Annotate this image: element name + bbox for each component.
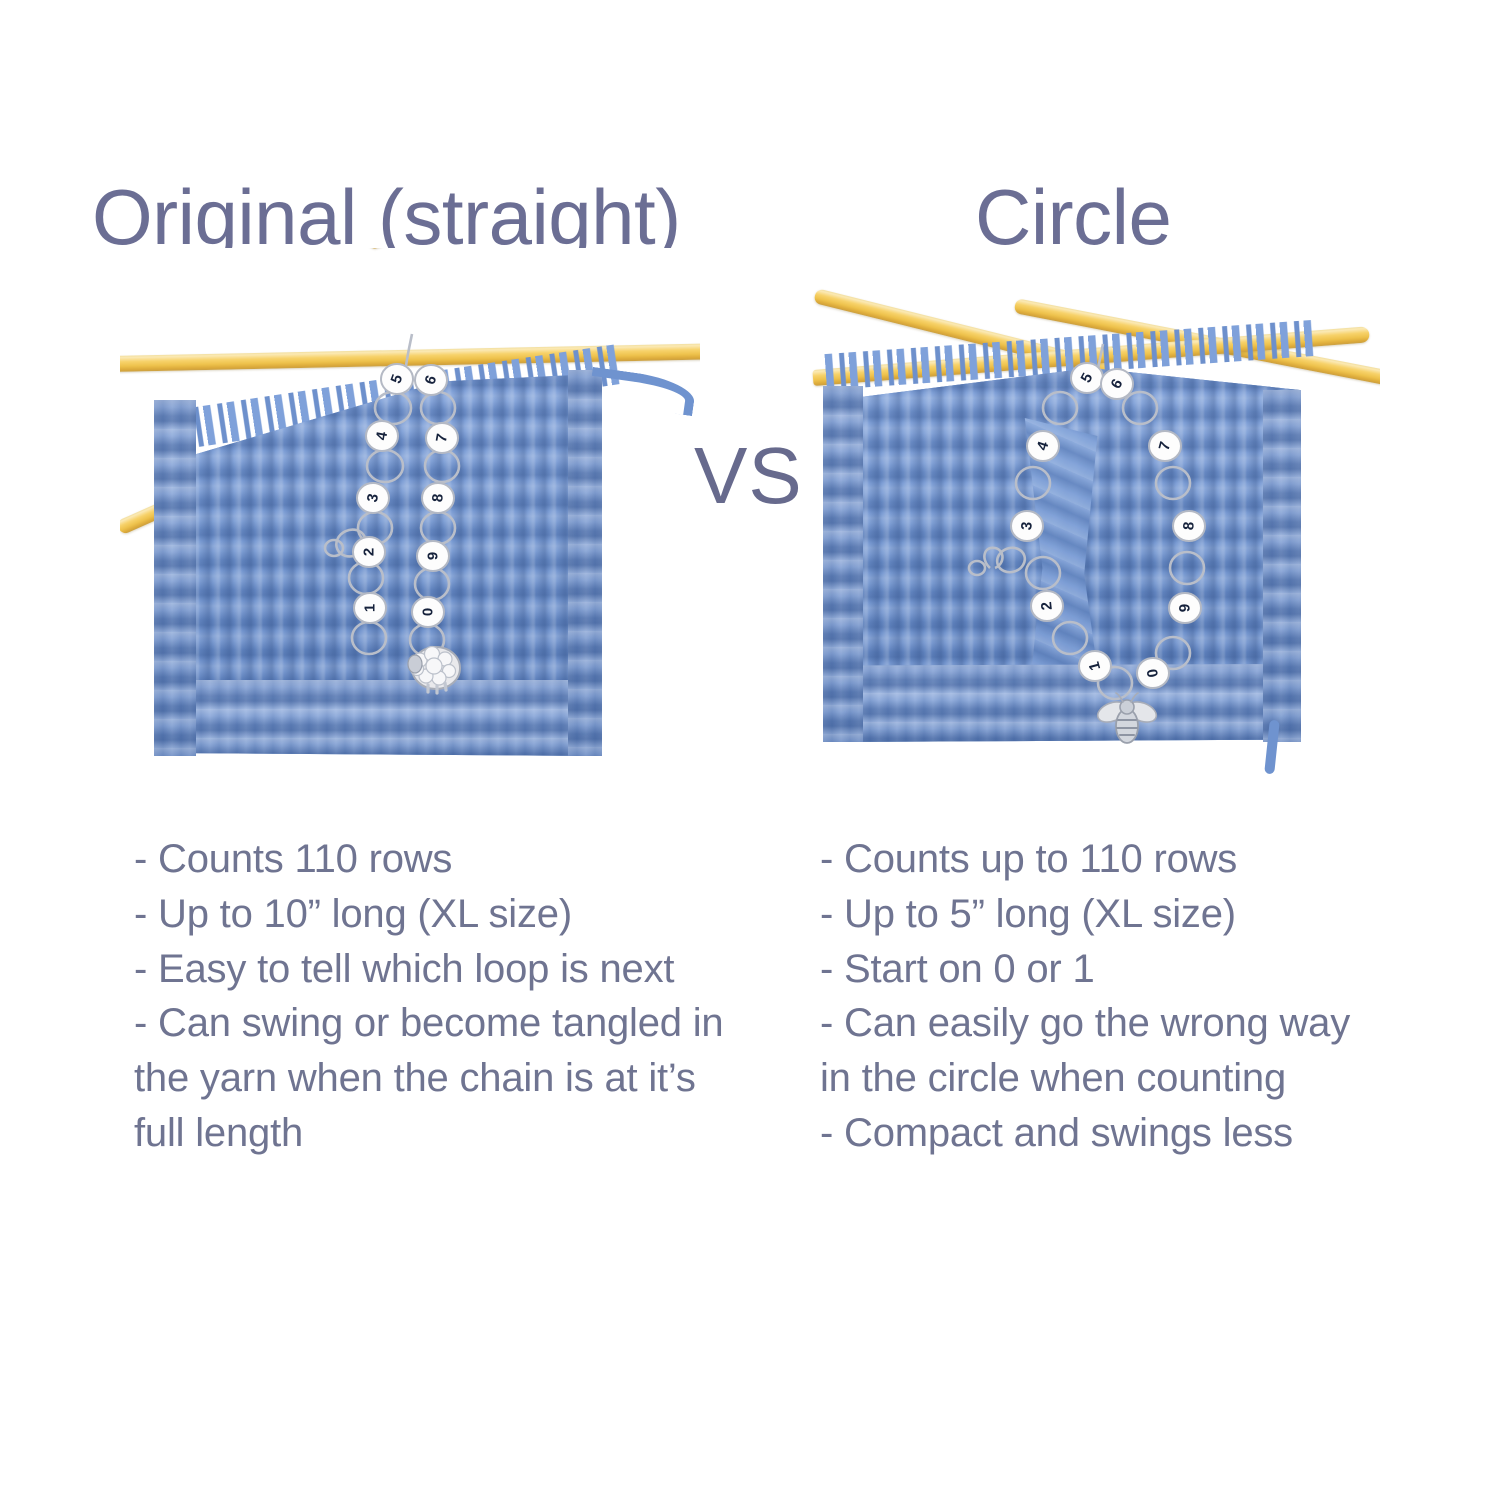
chain-beads: 5 6 4 3 <box>1011 363 1205 688</box>
right-product-photo: 5 6 4 3 <box>805 268 1380 803</box>
svg-text:2: 2 <box>361 548 378 556</box>
bee-charm-icon <box>1095 693 1160 743</box>
chain-beads: 1 2 3 4 <box>353 364 458 627</box>
versus-label: VS <box>694 436 803 516</box>
bead-3: 3 <box>357 483 389 513</box>
bead-0: 0 <box>1137 658 1169 688</box>
svg-text:3: 3 <box>1018 521 1036 531</box>
bead-8: 8 <box>1173 511 1205 541</box>
left-column-title: Original (straight) <box>92 178 681 256</box>
svg-text:1: 1 <box>362 604 379 612</box>
bead-6: 6 <box>1101 369 1133 399</box>
list-item: - Counts up to 110 rows <box>820 832 1380 887</box>
list-item: - Start on 0 or 1 <box>820 942 1380 997</box>
list-item: - Counts 110 rows <box>134 832 754 887</box>
bead-7: 7 <box>1149 431 1181 461</box>
comparison-infographic: Original (straight) <box>0 0 1500 1500</box>
straight-marker-chain: 1 2 3 4 <box>120 248 700 796</box>
list-item: - Up to 5” long (XL size) <box>820 887 1380 942</box>
list-item: - Can swing or become tangled in the yar… <box>134 996 754 1160</box>
svg-text:9: 9 <box>425 552 442 560</box>
left-feature-list: - Counts 110 rows - Up to 10” long (XL s… <box>134 832 754 1161</box>
bead-3: 3 <box>1011 511 1043 541</box>
right-feature-list: - Counts up to 110 rows - Up to 5” long … <box>820 832 1380 1161</box>
svg-text:0: 0 <box>420 608 437 616</box>
bead-4: 4 <box>366 421 398 451</box>
svg-text:8: 8 <box>1180 521 1198 531</box>
svg-text:8: 8 <box>429 493 447 503</box>
bead-9: 9 <box>417 541 449 571</box>
bead-7: 7 <box>426 423 458 453</box>
list-item: - Compact and swings less <box>820 1106 1380 1161</box>
bead-2: 2 <box>1031 591 1063 621</box>
bead-9: 9 <box>1169 593 1201 623</box>
bead-1: 1 <box>354 593 386 623</box>
bead-8: 8 <box>422 483 454 513</box>
right-column-title: Circle <box>975 178 1171 256</box>
bead-1: 1 <box>1079 651 1111 681</box>
bead-5: 5 <box>1071 363 1103 393</box>
list-item: - Up to 10” long (XL size) <box>134 887 754 942</box>
circle-marker-chain: 5 6 4 3 <box>805 268 1380 803</box>
svg-text:2: 2 <box>1038 601 1056 611</box>
list-item: - Can easily go the wrong way in the cir… <box>820 996 1380 1106</box>
left-product-photo: 1 2 3 4 <box>120 248 700 796</box>
bead-5: 5 <box>381 364 413 394</box>
bead-0: 0 <box>412 597 444 627</box>
list-item: - Easy to tell which loop is next <box>134 942 754 997</box>
bead-2: 2 <box>353 537 385 567</box>
bead-4: 4 <box>1027 431 1059 461</box>
bead-6: 6 <box>415 365 447 395</box>
svg-text:9: 9 <box>1176 604 1193 613</box>
